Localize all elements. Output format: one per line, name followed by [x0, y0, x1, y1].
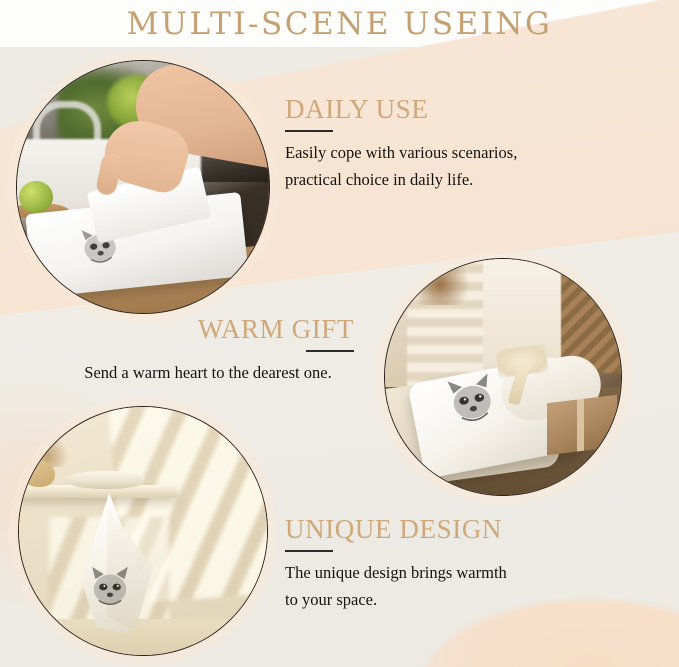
gift-box-band [577, 399, 584, 452]
animal-sketch-svg [81, 559, 139, 615]
body-line: Send a warm heart to the dearest one. [40, 360, 376, 387]
photo-warm-gift [384, 258, 622, 496]
section-heading-daily-use: DAILY USE [285, 96, 615, 123]
scene-warm-gift [385, 259, 621, 495]
scene-daily-use [17, 61, 269, 313]
green-fruit-icon [19, 181, 53, 213]
section-heading-unique-design: UNIQUE DESIGN [285, 516, 615, 543]
faucet-icon [33, 101, 101, 142]
ceramic-vase [23, 461, 55, 487]
animal-print-icon [81, 559, 139, 615]
counter-surface [18, 619, 268, 656]
section-body-warm-gift: Send a warm heart to the dearest one. [40, 360, 410, 387]
scene-unique-design [19, 407, 267, 655]
section-warm-gift: WARM GIFT Send a warm heart to the deare… [40, 316, 410, 387]
body-line: Easily cope with various scenarios, [285, 140, 615, 167]
photo-unique-design [18, 406, 268, 656]
stacked-plates-lower [71, 478, 141, 489]
page-title: MULTI-SCENE USEING [0, 0, 679, 47]
heading-rule [285, 550, 333, 552]
body-line: practical choice in daily life. [285, 167, 615, 194]
body-line: to your space. [285, 587, 615, 614]
heading-rule [306, 350, 354, 352]
photo-daily-use [16, 60, 270, 314]
section-heading-warm-gift: WARM GIFT [40, 316, 410, 343]
section-body-daily-use: Easily cope with various scenarios, prac… [285, 140, 615, 193]
product-feature-banner: MULTI-SCENE USEING [0, 0, 679, 667]
section-body-unique-design: The unique design brings warmth to your … [285, 560, 615, 613]
section-daily-use: DAILY USE Easily cope with various scena… [285, 96, 615, 193]
dried-flowers-icon [411, 258, 469, 305]
body-line: The unique design brings warmth [285, 560, 615, 587]
section-unique-design: UNIQUE DESIGN The unique design brings w… [285, 516, 615, 613]
heading-rule [285, 130, 333, 132]
